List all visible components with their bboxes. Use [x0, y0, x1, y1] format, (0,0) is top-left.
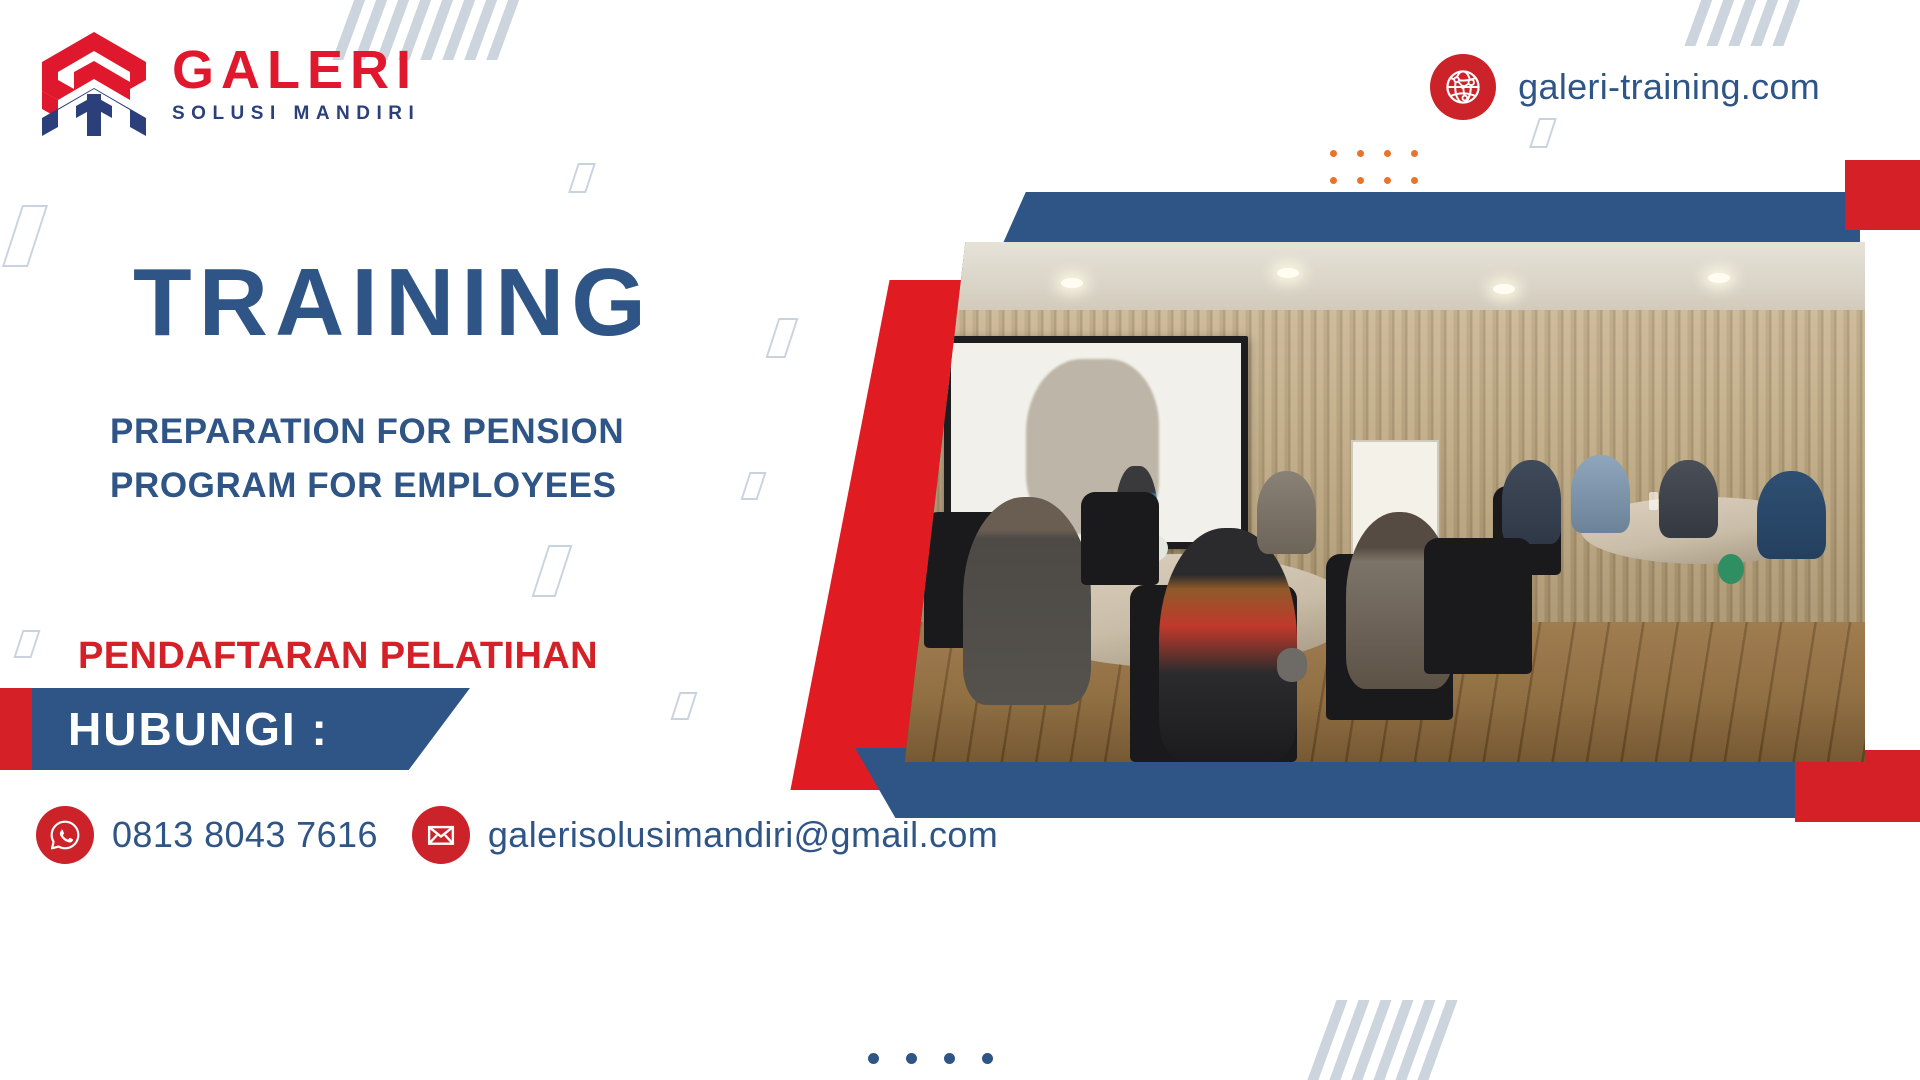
- photo-attendee: [1502, 460, 1561, 543]
- photo-glassware: [1649, 492, 1658, 510]
- brand-tagline: SOLUSI MANDIRI: [172, 104, 420, 123]
- photo-attendee: [1571, 455, 1630, 533]
- phone-number-text: 0813 8043 7616: [112, 814, 378, 856]
- subtitle-line-1: PREPARATION FOR PENSION: [110, 405, 624, 459]
- photo-attendee-hijab: [1159, 528, 1296, 762]
- photo-attendee: [1257, 471, 1316, 554]
- envelope-icon: [412, 806, 470, 864]
- contact-row: 0813 8043 7616 galerisolusimandiri@gmail…: [36, 806, 998, 864]
- diagonal-stripes-decoration: [1695, 0, 1794, 46]
- red-top-accent: [1845, 160, 1920, 230]
- photo-ceiling-light: [1277, 268, 1299, 278]
- dot-row-decoration: [868, 1053, 993, 1064]
- parallelogram-outline-decoration: [1529, 118, 1557, 148]
- contact-banner: HUBUNGI :: [0, 688, 470, 770]
- photo-backpack: [1277, 648, 1307, 682]
- parallelogram-outline-decoration: [532, 545, 573, 597]
- seminar-room-photo: [885, 242, 1865, 762]
- diagonal-stripes-decoration: [1322, 1000, 1443, 1080]
- brand-logo: GALERI SOLUSI MANDIRI: [38, 28, 420, 138]
- brand-name: GALERI: [172, 43, 420, 97]
- parallelogram-outline-decoration: [568, 163, 596, 193]
- parallelogram-outline-decoration: [670, 692, 697, 720]
- banner-canvas: GALERI SOLUSI MANDIRI galeri-training.co…: [0, 0, 1920, 1080]
- email-contact[interactable]: galerisolusimandiri@gmail.com: [412, 806, 998, 864]
- navy-top-bar: [1000, 192, 1860, 250]
- whatsapp-icon: [36, 806, 94, 864]
- registration-label: PENDAFTARAN PELATIHAN: [78, 635, 598, 678]
- photo-ceiling-light: [1493, 284, 1515, 294]
- training-photo-composition: [745, 160, 1920, 860]
- website-url-text: galeri-training.com: [1518, 66, 1820, 108]
- galeri-hexagon-logo-icon: [38, 28, 150, 138]
- contact-banner-label: HUBUNGI :: [68, 688, 329, 770]
- subtitle-line-2: PROGRAM FOR EMPLOYEES: [110, 459, 624, 513]
- globe-icon: [1430, 54, 1496, 120]
- whatsapp-contact[interactable]: 0813 8043 7616: [36, 806, 378, 864]
- photo-attendee: [1659, 460, 1718, 538]
- photo-attendee: [1757, 471, 1826, 559]
- parallelogram-outline-decoration: [13, 630, 40, 658]
- photo-attendee: [963, 497, 1090, 705]
- photo-chair: [1424, 538, 1532, 673]
- email-address-text: galerisolusimandiri@gmail.com: [488, 814, 998, 856]
- photo-green-bag: [1718, 554, 1744, 584]
- website-link[interactable]: galeri-training.com: [1430, 54, 1820, 120]
- photo-content: [885, 242, 1865, 762]
- photo-chair: [1081, 492, 1159, 586]
- course-subtitle: PREPARATION FOR PENSION PROGRAM FOR EMPL…: [110, 405, 624, 514]
- page-title: TRAINING: [133, 253, 653, 354]
- parallelogram-outline-decoration: [2, 205, 48, 267]
